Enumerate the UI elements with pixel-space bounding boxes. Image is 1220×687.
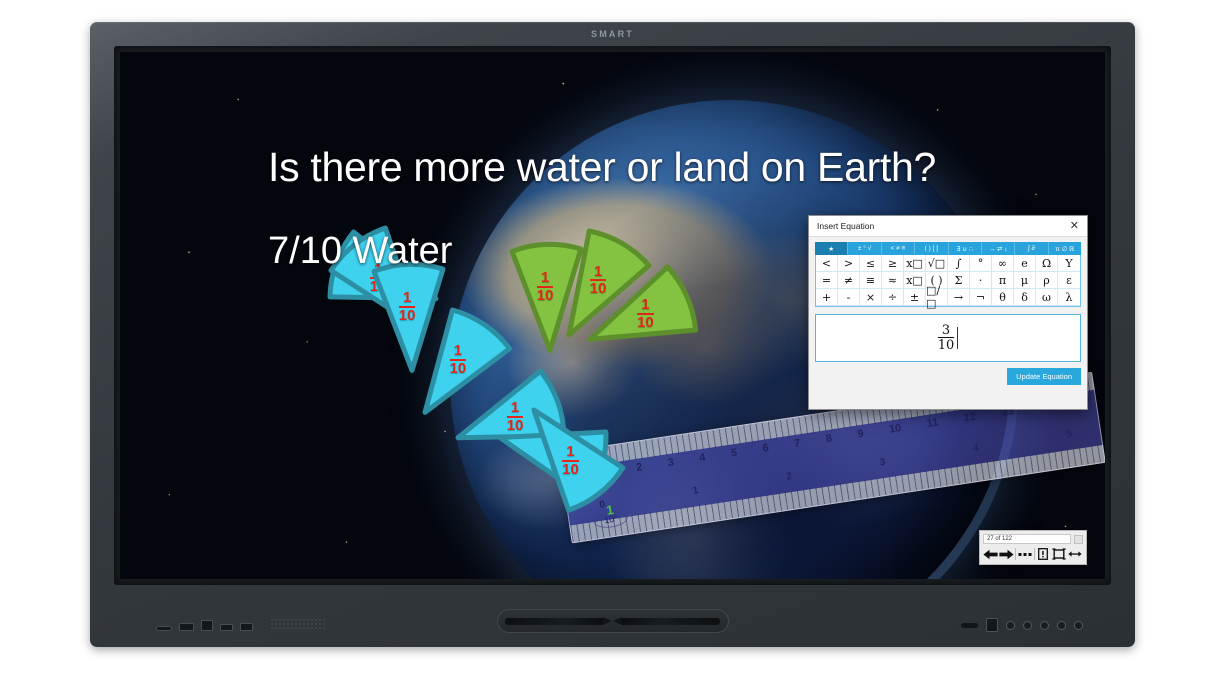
- port-power-icon: [156, 626, 172, 631]
- symbol-cell-9[interactable]: e: [1014, 255, 1036, 272]
- symbol-cell-3[interactable]: ≥: [882, 255, 904, 272]
- pen-tray[interactable]: [497, 609, 729, 633]
- wedge-numerator: 1: [507, 401, 524, 415]
- port-usb-b-icon: [201, 620, 213, 631]
- symbol-cell-28[interactable]: ±: [904, 289, 926, 306]
- close-icon[interactable]: ✕: [1068, 221, 1081, 232]
- symbol-cell-21[interactable]: μ: [1014, 272, 1036, 289]
- wedge-numerator: 1: [399, 291, 416, 305]
- ruler-tick-label-b-1: 1: [692, 485, 699, 497]
- ruler-tick-label-9: 9: [857, 428, 865, 441]
- wedge-denominator: 10: [637, 313, 654, 330]
- symbol-tab-4[interactable]: ∃ ∪ ∴: [949, 242, 982, 255]
- symbol-cell-25[interactable]: -: [838, 289, 860, 306]
- symbol-cell-29[interactable]: □/□: [926, 289, 948, 306]
- symbol-cell-4[interactable]: x□: [904, 255, 926, 272]
- ruler-tick-label-2: 2: [635, 461, 643, 474]
- symbol-cell-30[interactable]: →: [948, 289, 970, 306]
- symbol-cell-14[interactable]: ≡: [860, 272, 882, 289]
- screen-icon: [1052, 548, 1066, 560]
- symbol-cell-32[interactable]: θ: [992, 289, 1014, 306]
- wedge-numerator: 1: [637, 298, 654, 312]
- insert-equation-dialog[interactable]: Insert Equation ✕ ★± ° √< ≠ ≡( ) [ ]∃ ∪ …: [808, 215, 1088, 410]
- symbol-cell-5[interactable]: √□: [926, 255, 948, 272]
- wedge-denominator: 10: [537, 286, 554, 303]
- dialog-titlebar[interactable]: Insert Equation ✕: [809, 216, 1087, 237]
- display-bezel: SMART 0123456789101112131415 012345 1: [90, 22, 1135, 647]
- symbol-cell-2[interactable]: ≤: [860, 255, 882, 272]
- symbol-cell-1[interactable]: >: [838, 255, 860, 272]
- wedge-fraction-label: 110: [399, 291, 416, 323]
- speaker-grill: [270, 618, 326, 630]
- wedge-numerator: 1: [450, 344, 467, 358]
- ruler-tick-label-b-3: 3: [879, 457, 886, 469]
- input-button[interactable]: [1023, 621, 1032, 630]
- page-view-button[interactable]: [1036, 547, 1051, 561]
- equation-input-field[interactable]: 3 10: [815, 314, 1081, 362]
- wedge-denominator: 10: [399, 306, 416, 323]
- menu-button[interactable]: [1040, 621, 1049, 630]
- port-vga-icon: [240, 623, 253, 631]
- symbol-tab-7[interactable]: π ∅ ℝ: [1049, 242, 1081, 255]
- equation-fraction: 3 10: [938, 324, 955, 353]
- screenshot-root: SMART 0123456789101112131415 012345 1: [0, 0, 1220, 687]
- stylus-pen-left[interactable]: [505, 618, 605, 625]
- wedge-fraction-label: 110: [537, 271, 554, 303]
- symbol-grid: <>≤≥x□√□∫°∞eΩΥ=≠≡≈x□( )Σ·πμρε+-×÷±□/□→¬θ…: [815, 255, 1081, 307]
- symbol-cell-19[interactable]: ·: [970, 272, 992, 289]
- ruler-tick-label-b-2: 2: [786, 471, 793, 483]
- equation-denominator: 10: [938, 337, 955, 352]
- symbol-cell-23[interactable]: ε: [1058, 272, 1080, 289]
- symbol-cell-10[interactable]: Ω: [1036, 255, 1058, 272]
- fraction-wedge-water[interactable]: 110: [524, 400, 633, 520]
- display-panel-frame: 0123456789101112131415 012345 10" 1 1101…: [114, 46, 1111, 585]
- symbol-tab-6[interactable]: ∫ ∂: [1015, 242, 1048, 255]
- equation-numerator: 3: [938, 324, 955, 337]
- arrow-left-icon: [983, 549, 998, 560]
- wedge-fraction-label: 110: [562, 445, 579, 477]
- dialog-body: ★± ° √< ≠ ≡( ) [ ]∃ ∪ ∴→ ⇄ ↕∫ ∂π ∅ ℝ <>≤…: [809, 237, 1087, 391]
- symbol-cell-34[interactable]: ω: [1036, 289, 1058, 306]
- ruler-tick-label-11: 11: [926, 416, 939, 430]
- ruler-tick-label-10: 10: [888, 422, 902, 436]
- port-cluster: [156, 620, 253, 631]
- symbol-cell-27[interactable]: ÷: [882, 289, 904, 306]
- symbol-cell-33[interactable]: δ: [1014, 289, 1036, 306]
- ellipsis-icon: [1018, 552, 1032, 557]
- symbol-cell-0[interactable]: <: [816, 255, 838, 272]
- page-counter[interactable]: 27 of 122: [983, 534, 1071, 544]
- slide-canvas[interactable]: 0123456789101112131415 012345 10" 1 1101…: [120, 52, 1105, 579]
- ir-receiver-icon: [961, 623, 978, 628]
- ruler-tick-label-5: 5: [730, 447, 738, 460]
- symbol-tab-3[interactable]: ( ) [ ]: [915, 242, 948, 255]
- ruler-tick-label-3: 3: [667, 456, 675, 469]
- symbol-cell-22[interactable]: ρ: [1036, 272, 1058, 289]
- ruler-tick-label-8: 8: [825, 432, 833, 445]
- update-equation-button[interactable]: Update Equation: [1007, 368, 1081, 385]
- volume-up-button[interactable]: [1074, 621, 1083, 630]
- volume-down-button[interactable]: [1057, 621, 1066, 630]
- page-counter-stepper[interactable]: [1074, 535, 1083, 544]
- ruler-tick-label-4: 4: [699, 452, 707, 465]
- symbol-tab-1[interactable]: ± ° √: [848, 242, 881, 255]
- smart-interactive-display: SMART 0123456789101112131415 012345 1: [90, 22, 1135, 647]
- symbol-cell-31[interactable]: ¬: [970, 289, 992, 306]
- slide-title: Is there more water or land on Earth?: [268, 144, 936, 191]
- ruler-tick-label-b-4: 4: [972, 443, 979, 455]
- symbol-cell-35[interactable]: λ: [1058, 289, 1080, 306]
- arrows-horizontal-icon: [1068, 550, 1082, 558]
- previous-page-button[interactable]: [983, 547, 998, 561]
- slide-subtitle: 7/10 Water: [268, 230, 452, 273]
- expand-button[interactable]: [1068, 547, 1083, 561]
- more-options-button[interactable]: [1017, 547, 1032, 561]
- symbol-cell-13[interactable]: ≠: [838, 272, 860, 289]
- symbol-cell-20[interactable]: π: [992, 272, 1014, 289]
- symbol-cell-11[interactable]: Υ: [1058, 255, 1080, 272]
- smart-brand-logo: SMART: [90, 29, 1135, 39]
- wedge-numerator: 1: [537, 271, 554, 285]
- symbol-cell-16[interactable]: x□: [904, 272, 926, 289]
- ruler-tick-label-12: 12: [963, 411, 977, 425]
- symbol-tab-5[interactable]: → ⇄ ↕: [982, 242, 1015, 255]
- symbol-cell-15[interactable]: ≈: [882, 272, 904, 289]
- wedge-fraction-label: 110: [637, 298, 654, 330]
- control-button-cluster: [961, 618, 1083, 632]
- symbol-tab-2[interactable]: < ≠ ≡: [882, 242, 915, 255]
- dialog-footer: Update Equation: [815, 368, 1081, 385]
- port-usb-icon: [179, 623, 194, 631]
- symbol-cell-7[interactable]: °: [970, 255, 992, 272]
- ambient-sensor-icon: [986, 618, 998, 632]
- next-page-button[interactable]: [999, 547, 1014, 561]
- toolbar-divider: [1034, 548, 1035, 560]
- symbol-cell-18[interactable]: Σ: [948, 272, 970, 289]
- symbol-cell-24[interactable]: +: [816, 289, 838, 306]
- ruler-tick-label-b-5: 5: [1066, 429, 1073, 441]
- power-button[interactable]: [1006, 621, 1015, 630]
- arrow-right-icon: [999, 549, 1014, 560]
- symbol-cell-8[interactable]: ∞: [992, 255, 1014, 272]
- symbol-cell-6[interactable]: ∫: [948, 255, 970, 272]
- stylus-pen-right[interactable]: [620, 618, 720, 625]
- symbol-tab-0[interactable]: ★: [815, 242, 848, 255]
- wedge-denominator: 10: [562, 460, 579, 477]
- symbol-category-tabs: ★± ° √< ≠ ≡( ) [ ]∃ ∪ ∴→ ⇄ ↕∫ ∂π ∅ ℝ: [815, 242, 1081, 255]
- nav-button-row: [983, 547, 1083, 561]
- screen-capture-button[interactable]: [1052, 547, 1067, 561]
- text-cursor: [957, 327, 958, 349]
- symbol-cell-12[interactable]: =: [816, 272, 838, 289]
- symbol-cell-26[interactable]: ×: [860, 289, 882, 306]
- page-counter-row: 27 of 122: [983, 534, 1083, 544]
- page-navigation-toolbar[interactable]: 27 of 122: [979, 530, 1087, 565]
- wedge-numerator: 1: [562, 445, 579, 459]
- port-hdmi-icon: [220, 624, 233, 631]
- ruler-tick-label-7: 7: [793, 437, 801, 450]
- page-icon: [1038, 548, 1048, 560]
- dialog-title: Insert Equation: [817, 221, 874, 231]
- fraction-wedge-land[interactable]: 110: [580, 257, 706, 349]
- toolbar-divider: [1015, 548, 1016, 560]
- ruler-tick-label-6: 6: [762, 442, 770, 455]
